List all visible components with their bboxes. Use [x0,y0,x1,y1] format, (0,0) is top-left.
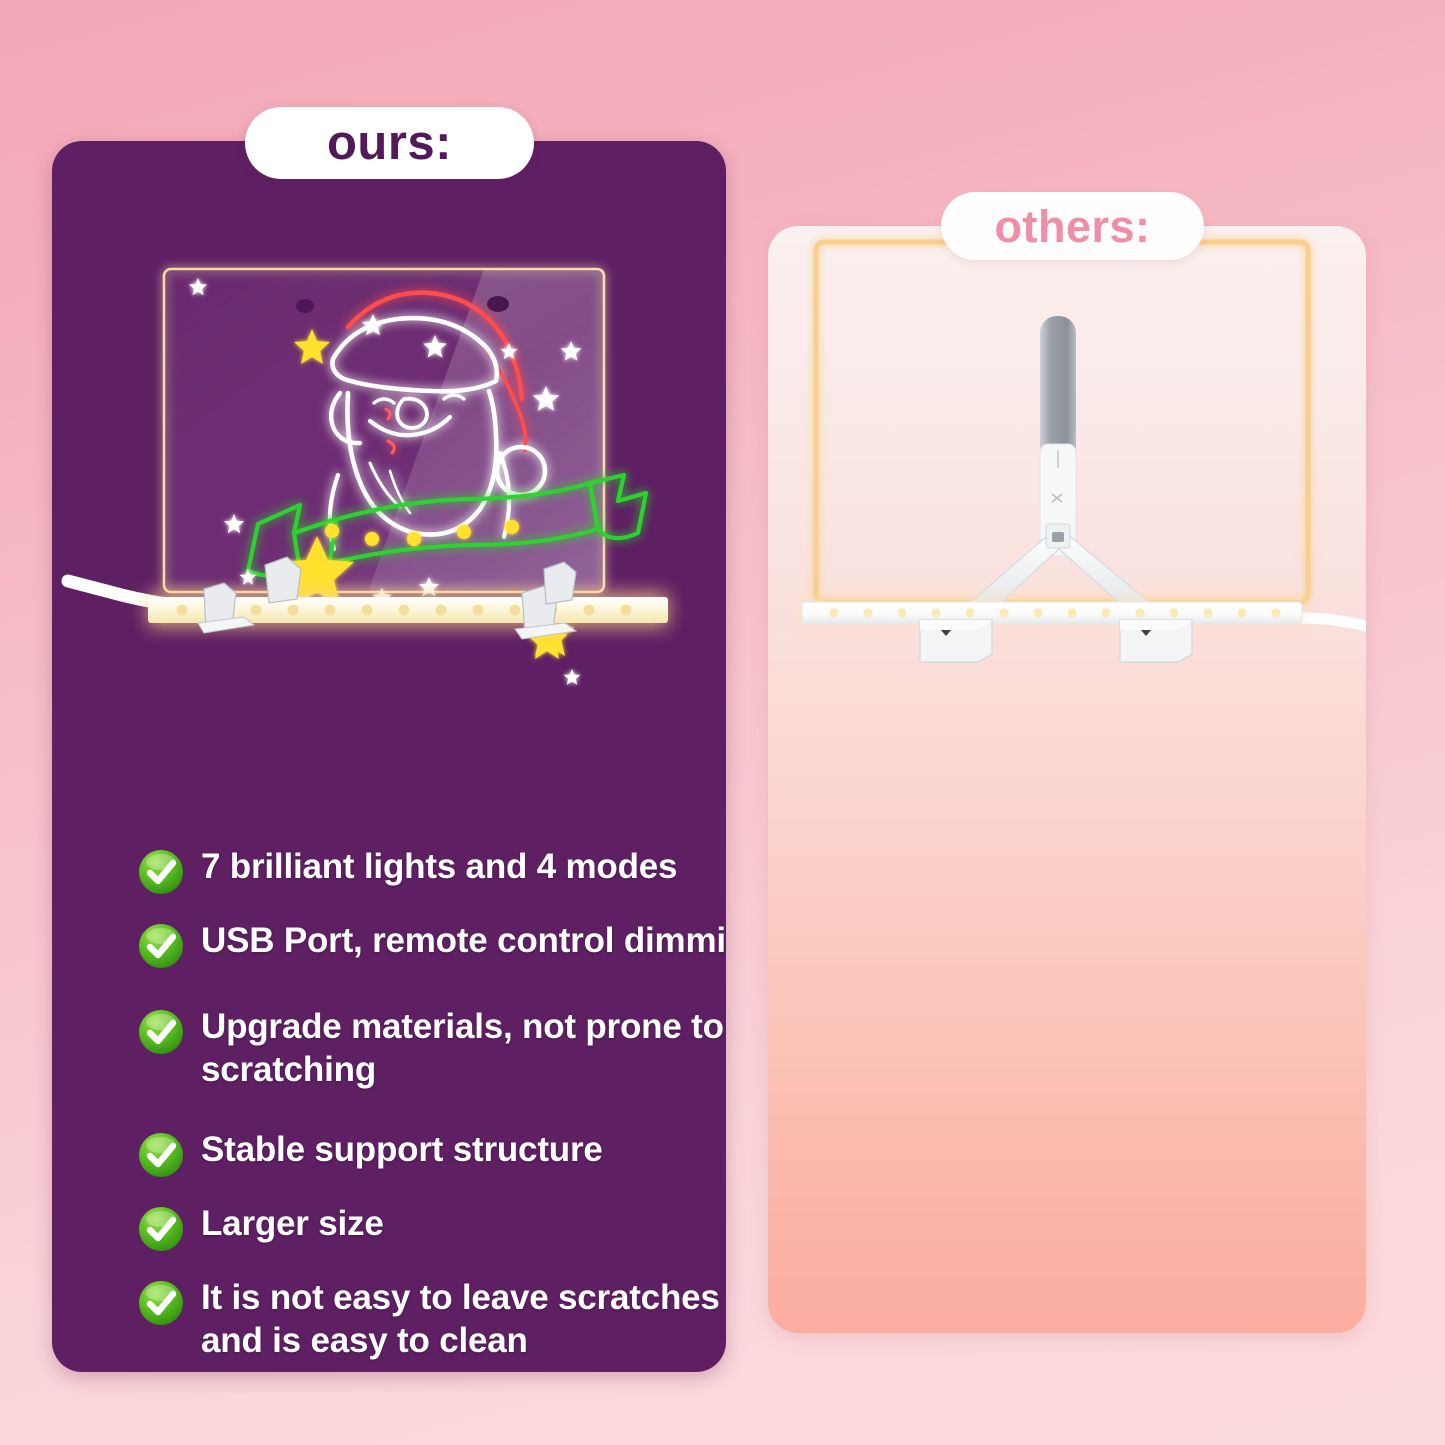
list-item: 7 brilliant lights and 4 modes [137,846,726,894]
list-item: Stable support structure [137,1129,726,1177]
front-foot-left [920,620,992,662]
list-item-label: 7 brilliant lights and 4 modes [201,846,677,889]
list-item: USB Port, remote control dimming [137,920,726,968]
front-foot-right [1120,620,1192,662]
green-check-icon [137,922,185,970]
ours-badge: ours: [245,107,534,179]
green-check-icon [137,1279,185,1327]
list-item: It is not easy to leave scratches and is… [137,1277,726,1362]
list-item: Larger size [137,1203,726,1251]
list-item-label: Stable support structure [201,1129,603,1172]
others-badge: others: [941,192,1204,260]
panel-clip-far-right [544,562,576,604]
others-product-image [768,226,1366,696]
ours-feature-list: 7 brilliant lights and 4 modes USB Port,… [137,846,726,1372]
others-card: Single-color mode No adjustable function [768,226,1366,1333]
others-badge-label: others: [994,204,1150,249]
green-check-icon [137,848,185,896]
led-base-strip [802,602,1302,624]
green-check-icon [137,1008,185,1056]
list-item-label: Upgrade materials, not prone to scratchi… [201,1006,726,1091]
list-item-label: USB Port, remote control dimming [201,920,726,963]
ours-product-image [52,141,726,701]
panel-clip-mid [265,557,301,603]
ours-badge-label: ours: [327,119,452,168]
list-item-label: It is not easy to leave scratches and is… [201,1277,726,1362]
list-item-label: Larger size [201,1203,384,1246]
list-item: Upgrade materials, not prone to scratchi… [137,1006,726,1091]
usb-power-cable [1300,618,1366,626]
green-check-icon [137,1131,185,1179]
green-check-icon [137,1205,185,1253]
ours-card: 7 brilliant lights and 4 modes USB Port,… [52,141,726,1372]
